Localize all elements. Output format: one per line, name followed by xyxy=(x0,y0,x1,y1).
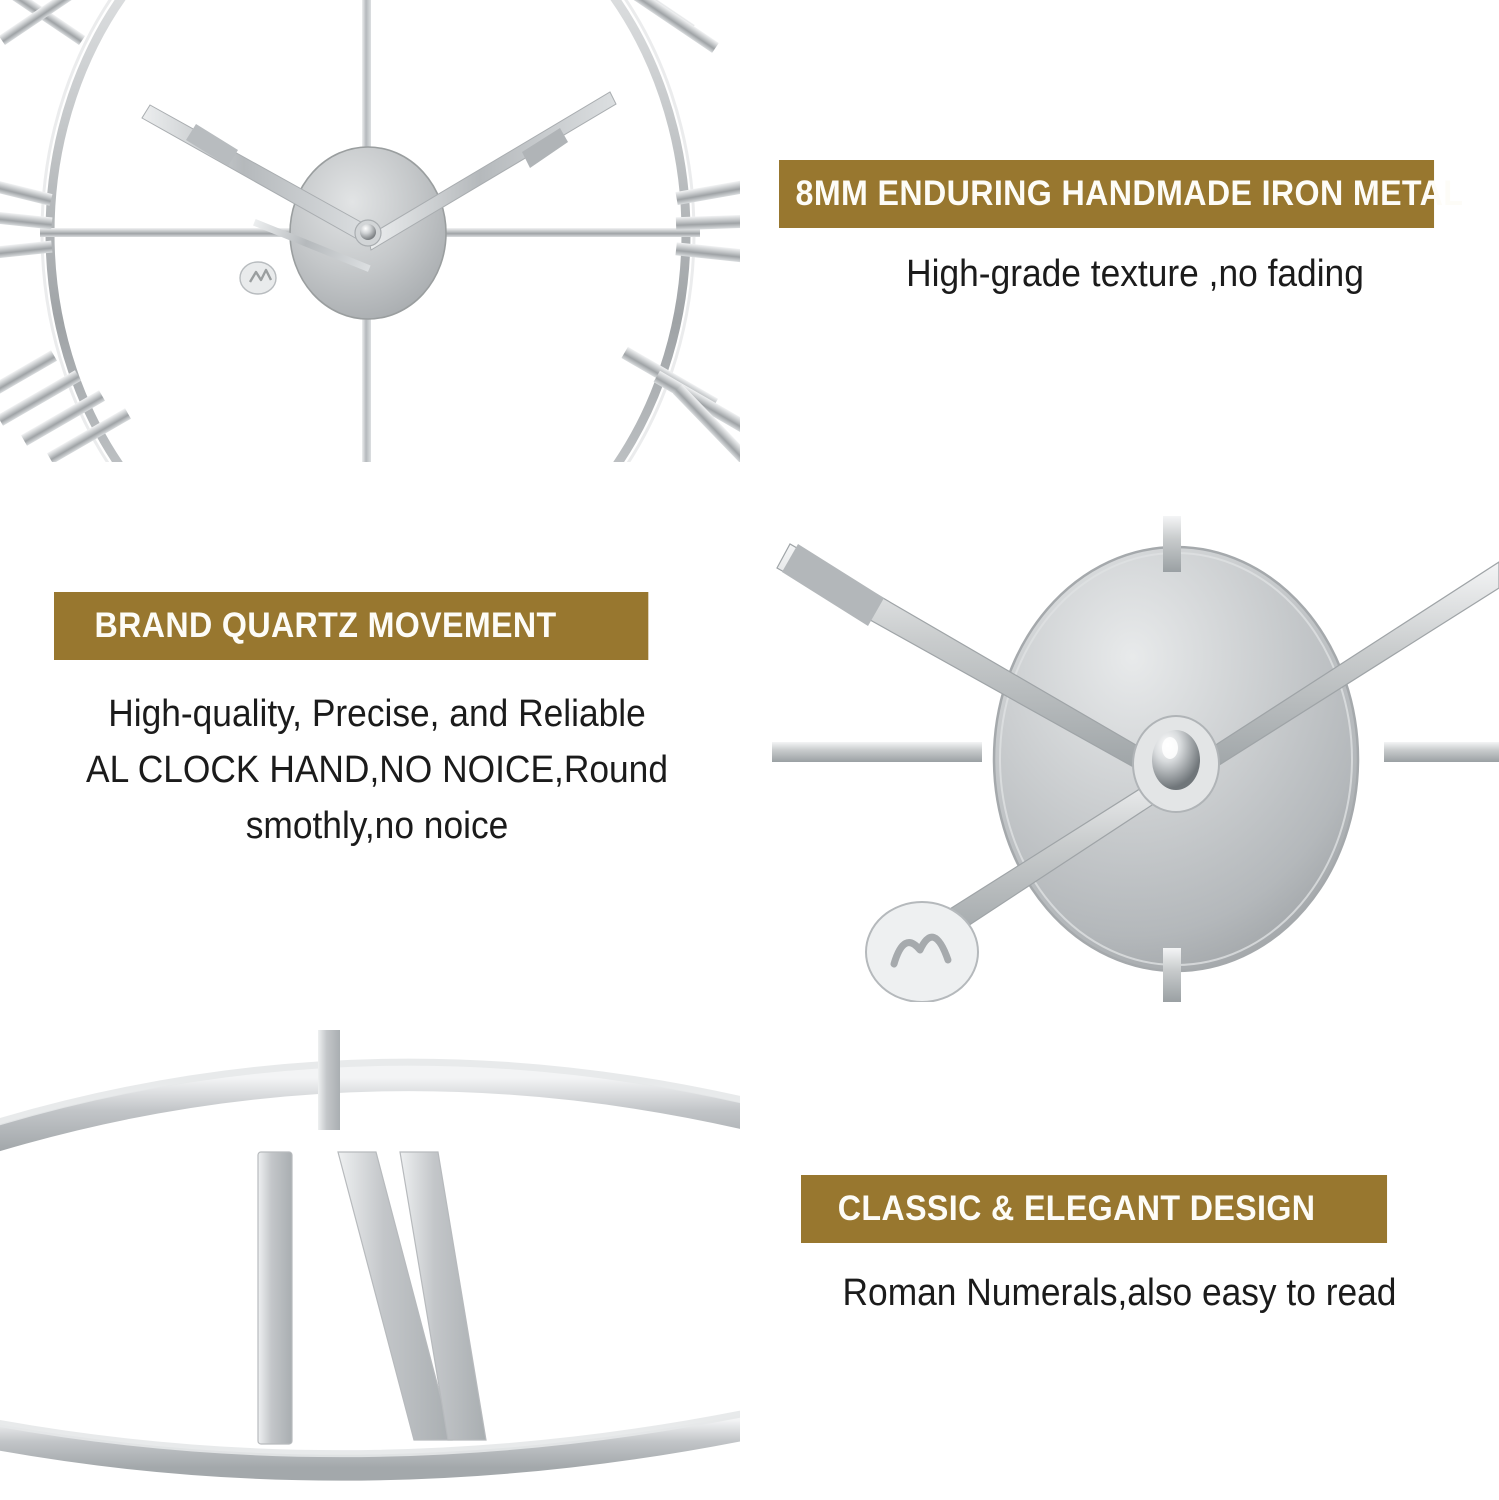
feature-subtitle-quartz-line-1: High-quality, Precise, and Reliable xyxy=(77,686,678,742)
feature-subtitle-iron: High-grade texture ,no fading xyxy=(804,250,1466,299)
feature-subtitle-quartz-line-2: AL CLOCK HAND,NO NOICE,Round xyxy=(77,742,678,798)
feature-subtitle-classic-line-1: Roman Numerals,also easy to read xyxy=(823,1269,1415,1318)
feature-banner-classic-label: CLASSIC & ELEGANT DESIGN xyxy=(838,1189,1350,1229)
feature-block-iron: 8MM ENDURING HANDMADE IRON METAL High-gr… xyxy=(779,160,1491,299)
center-pin-macro xyxy=(1152,730,1200,790)
feature-subtitle-quartz: High-quality, Precise, and Reliable AL C… xyxy=(77,686,678,855)
feature-block-classic: CLASSIC & ELEGANT DESIGN Roman Numerals,… xyxy=(801,1175,1438,1318)
feature-banner-classic: CLASSIC & ELEGANT DESIGN xyxy=(801,1175,1387,1243)
numeral-III xyxy=(675,180,740,263)
feature-block-quartz: BRAND QUARTZ MOVEMENT High-quality, Prec… xyxy=(54,592,700,855)
feature-banner-quartz-label: BRAND QUARTZ MOVEMENT xyxy=(94,606,607,646)
feature-subtitle-quartz-line-3: smothly,no noice xyxy=(77,798,678,854)
feature-banner-iron: 8MM ENDURING HANDMADE IRON METAL xyxy=(779,160,1434,228)
product-photo-hub xyxy=(772,516,1499,1002)
feature-banner-quartz: BRAND QUARTZ MOVEMENT xyxy=(54,592,648,660)
feature-banner-iron-label: 8MM ENDURING HANDMADE IRON METAL xyxy=(796,174,1418,214)
numeral-illustration xyxy=(0,1030,740,1500)
product-photo-dial xyxy=(0,0,740,462)
product-photo-numeral xyxy=(0,1030,740,1500)
dial-illustration xyxy=(0,0,740,462)
feature-subtitle-classic: Roman Numerals,also easy to read xyxy=(823,1269,1415,1318)
center-pin xyxy=(360,224,376,240)
hub-illustration xyxy=(772,516,1499,1002)
numeral-stroke-I xyxy=(258,1152,292,1444)
infographic-page: 8MM ENDURING HANDMADE IRON METAL High-gr… xyxy=(0,0,1499,1500)
center-spoke xyxy=(318,1030,340,1130)
feature-subtitle-iron-line-1: High-grade texture ,no fading xyxy=(804,250,1466,299)
